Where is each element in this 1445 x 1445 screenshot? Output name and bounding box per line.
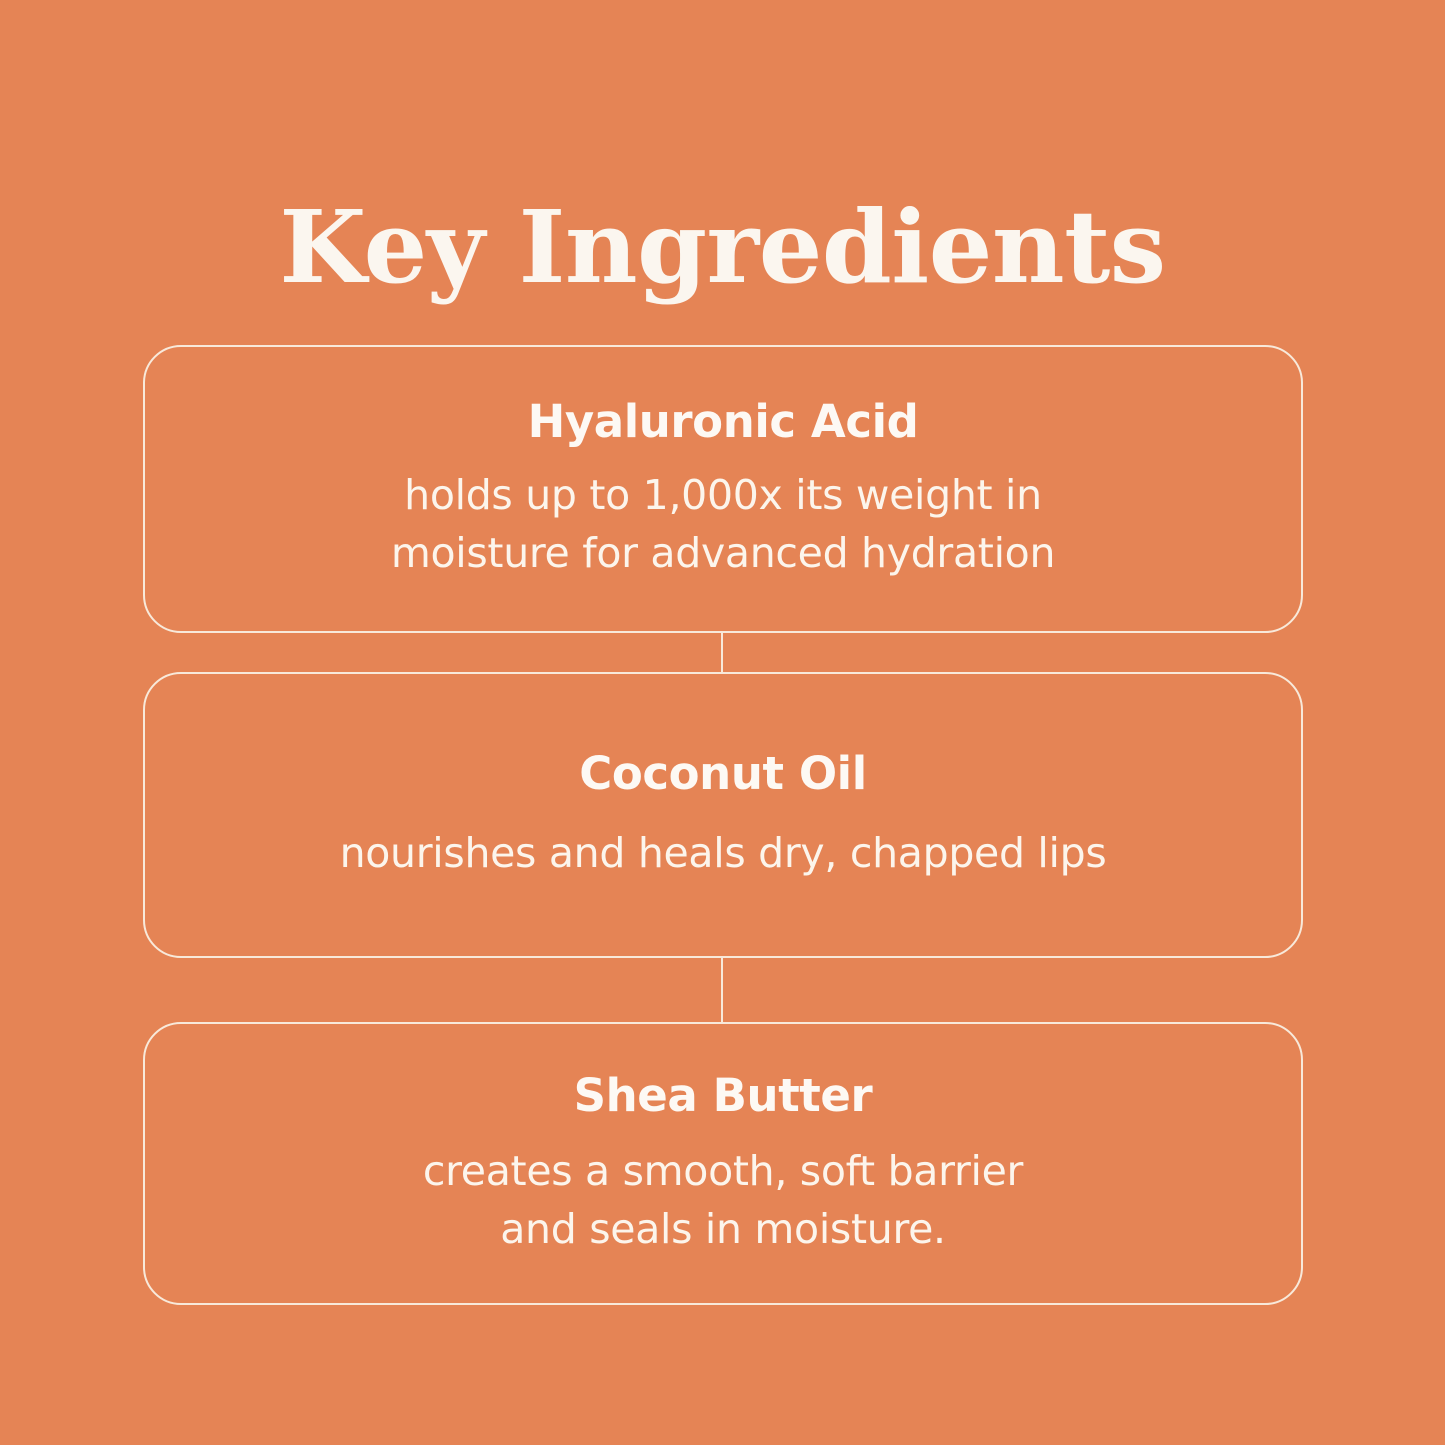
ingredient-description-hyaluronic-acid: holds up to 1,000x its weight in moistur… (391, 466, 1055, 582)
ingredient-description-coconut-oil: nourishes and heals dry, chapped lips (340, 824, 1107, 882)
ingredient-description-shea-butter: creates a smooth, soft barrier and seals… (423, 1142, 1023, 1258)
ingredient-card-coconut-oil: Coconut Oil nourishes and heals dry, cha… (143, 672, 1303, 958)
page-title: Key Ingredients (0, 192, 1445, 302)
ingredient-heading-coconut-oil: Coconut Oil (579, 748, 867, 800)
ingredient-heading-shea-butter: Shea Butter (574, 1070, 873, 1122)
connector-line-2 (721, 958, 723, 1023)
ingredient-card-hyaluronic-acid: Hyaluronic Acid holds up to 1,000x its w… (143, 345, 1303, 633)
ingredient-card-stack: Hyaluronic Acid holds up to 1,000x its w… (143, 345, 1303, 1305)
ingredient-card-shea-butter: Shea Butter creates a smooth, soft barri… (143, 1022, 1303, 1305)
connector-line-1 (721, 633, 723, 673)
key-ingredients-infographic: Key Ingredients Hyaluronic Acid holds up… (0, 0, 1445, 1445)
ingredient-heading-hyaluronic-acid: Hyaluronic Acid (528, 396, 919, 448)
